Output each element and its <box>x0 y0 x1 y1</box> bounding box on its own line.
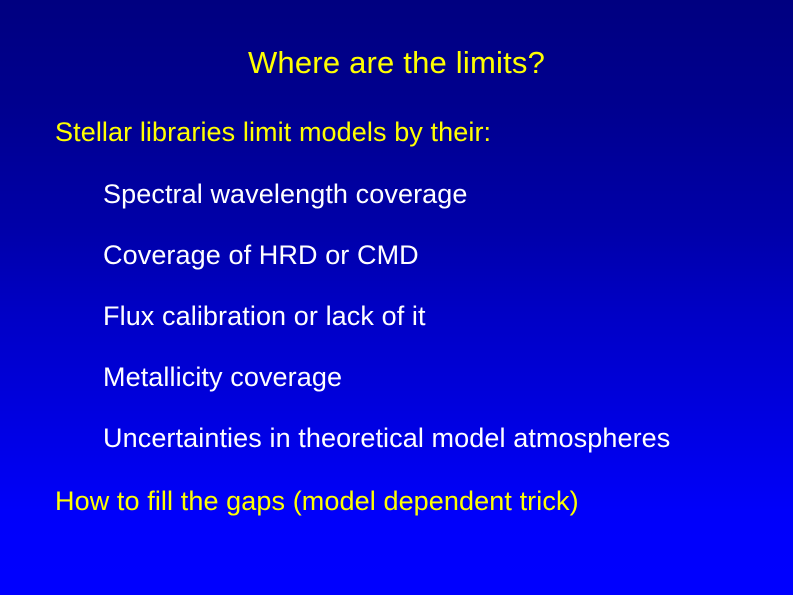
bullet-uncertainties-model-atmospheres: Uncertainties in theoretical model atmos… <box>103 423 670 453</box>
slide-heading-how-to-fill-the-gaps: How to fill the gaps (model dependent tr… <box>55 486 579 516</box>
presentation-slide: Where are the limits? Stellar libraries … <box>0 0 793 595</box>
slide-heading-stellar-libraries: Stellar libraries limit models by their: <box>55 117 491 147</box>
slide-body: Stellar libraries limit models by their:… <box>0 0 793 595</box>
bullet-coverage-of-hrd-or-cmd: Coverage of HRD or CMD <box>103 240 419 270</box>
bullet-flux-calibration: Flux calibration or lack of it <box>103 301 426 331</box>
bullet-metallicity-coverage: Metallicity coverage <box>103 362 342 392</box>
bullet-spectral-wavelength-coverage: Spectral wavelength coverage <box>103 179 468 209</box>
